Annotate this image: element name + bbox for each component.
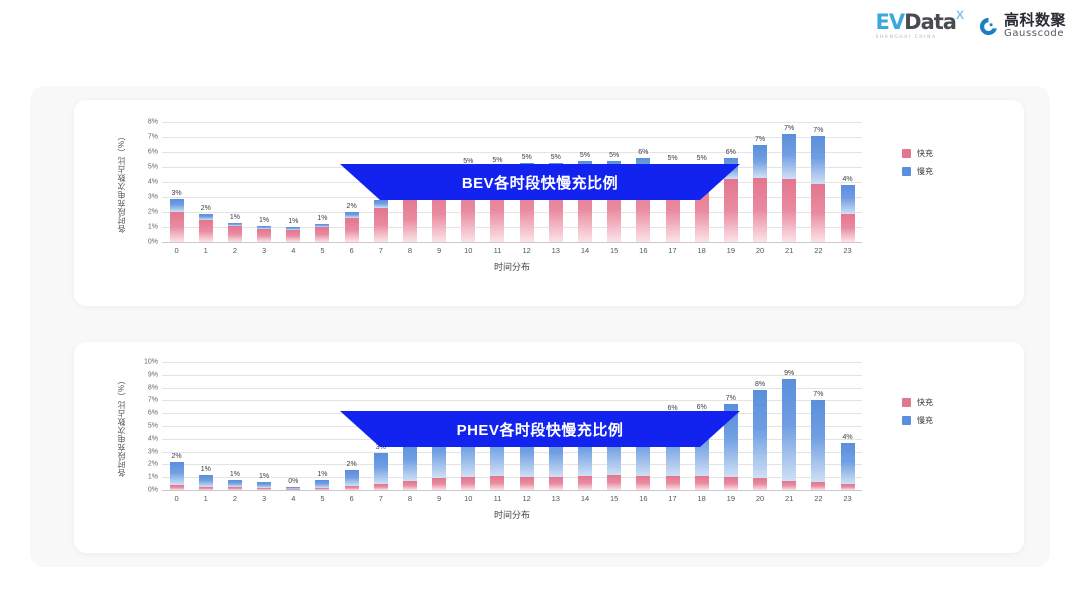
gausscode-en-label: Gausscode	[1004, 29, 1066, 39]
bar-data-label: 6%	[726, 149, 736, 156]
legend-label: 快充	[917, 148, 933, 159]
bar-column[interactable]: 1%	[191, 362, 220, 490]
x-tick: 9	[425, 246, 454, 255]
chart-phev-y-axis-label: 各时段充电次数占比（%）	[116, 358, 127, 494]
legend-color-swatch	[902, 416, 911, 425]
stacked-bar[interactable]	[374, 200, 388, 242]
x-tick: 17	[658, 494, 687, 503]
bar-data-label: 1%	[317, 215, 327, 222]
bar-segment-slow-charge	[374, 453, 388, 484]
stacked-bar[interactable]	[782, 134, 796, 242]
x-tick: 0	[162, 494, 191, 503]
bar-segment-slow-charge	[374, 200, 388, 208]
bar-segment-fast-charge	[228, 226, 242, 243]
bar-segment-fast-charge	[257, 229, 271, 243]
legend-label: 慢充	[917, 166, 933, 177]
bar-segment-fast-charge	[782, 179, 796, 242]
chart-phev-y-tick: 0%	[130, 487, 158, 494]
x-tick: 10	[454, 246, 483, 255]
chart-phev-x-axis-label: 时间分布	[162, 508, 862, 521]
x-tick: 8	[395, 494, 424, 503]
gausscode-logo: 高科数聚 Gausscode	[978, 13, 1066, 39]
bar-data-label: 5%	[522, 154, 532, 161]
bar-segment-slow-charge	[315, 480, 329, 488]
bar-column[interactable]: 2%	[191, 122, 220, 242]
bar-segment-fast-charge	[724, 179, 738, 242]
bar-column[interactable]: 4%	[833, 122, 862, 242]
chart-bev-y-tick: 2%	[130, 209, 158, 216]
content-panel: BEV各时段快慢充比例 各时段充电次数占比（%）0%1%2%3%4%5%6%7%…	[30, 86, 1050, 567]
bar-segment-fast-charge	[578, 476, 592, 490]
bar-segment-fast-charge	[461, 477, 475, 490]
bar-segment-fast-charge	[170, 485, 184, 490]
bar-data-label: 2%	[201, 205, 211, 212]
chart-phev-y-tick: 4%	[130, 435, 158, 442]
x-tick: 18	[687, 494, 716, 503]
phev-chart-title-banner: PHEV各时段快慢充比例	[340, 411, 740, 447]
x-tick: 2	[220, 246, 249, 255]
legend-color-swatch	[902, 149, 911, 158]
evdata-logo: EV Data X SHANGHAI CHINA	[876, 12, 964, 40]
bar-data-label: 1%	[259, 217, 269, 224]
x-tick: 5	[308, 494, 337, 503]
phev-chart: 各时段充电次数占比（%）0%1%2%3%4%5%6%7%8%9%10%2%1%1…	[74, 342, 1024, 553]
bar-column[interactable]: 7%	[804, 362, 833, 490]
x-tick: 16	[629, 494, 658, 503]
x-tick: 11	[483, 494, 512, 503]
bar-column[interactable]: 6%	[716, 122, 745, 242]
bar-segment-fast-charge	[636, 476, 650, 490]
bar-segment-slow-charge	[841, 185, 855, 214]
chart-phev-y-tick: 8%	[130, 384, 158, 391]
stacked-bar[interactable]	[753, 390, 767, 490]
bar-data-label: 7%	[784, 125, 794, 132]
bar-segment-slow-charge	[170, 462, 184, 485]
evdata-superscript-x: X	[956, 9, 964, 21]
bar-data-label: 2%	[172, 453, 182, 460]
x-tick: 0	[162, 246, 191, 255]
bar-segment-fast-charge	[520, 477, 534, 490]
chart-phev-y-tick: 2%	[130, 461, 158, 468]
bar-segment-fast-charge	[374, 484, 388, 490]
chart-bev-x-tick-row: 01234567891011121314151617181920212223	[162, 246, 862, 255]
bar-segment-slow-charge	[170, 199, 184, 213]
chart-bev-y-tick: 5%	[130, 164, 158, 171]
bar-segment-fast-charge	[841, 214, 855, 243]
bar-column[interactable]: 1%	[220, 362, 249, 490]
bar-data-label: 5%	[609, 152, 619, 159]
x-tick: 11	[483, 246, 512, 255]
stacked-bar[interactable]	[841, 185, 855, 242]
bar-data-label: 1%	[317, 471, 327, 478]
chart-bev-y-tick: 0%	[130, 239, 158, 246]
bar-data-label: 1%	[230, 214, 240, 221]
x-tick: 10	[454, 494, 483, 503]
bar-data-label: 5%	[492, 157, 502, 164]
chart-phev-legend: 快充慢充	[902, 397, 933, 426]
stacked-bar[interactable]	[374, 453, 388, 490]
chart-phev-y-tick: 6%	[130, 410, 158, 417]
stacked-bar[interactable]	[199, 214, 213, 243]
bar-data-label: 5%	[463, 158, 473, 165]
x-tick: 12	[512, 494, 541, 503]
x-tick: 21	[775, 494, 804, 503]
x-tick: 2	[220, 494, 249, 503]
chart-phev-y-tick: 7%	[130, 397, 158, 404]
gausscode-text: 高科数聚 Gausscode	[1004, 13, 1066, 39]
legend-item[interactable]: 慢充	[902, 415, 933, 426]
bar-segment-fast-charge	[403, 197, 417, 242]
bar-segment-fast-charge	[841, 484, 855, 490]
bar-segment-fast-charge	[286, 230, 300, 242]
evdata-wordmark: EV Data X	[876, 12, 964, 33]
bar-segment-slow-charge	[199, 475, 213, 487]
bar-data-label: 4%	[842, 434, 852, 441]
bar-segment-slow-charge	[811, 400, 825, 482]
chart-bev-y-tick: 6%	[130, 149, 158, 156]
x-tick: 8	[395, 246, 424, 255]
bar-segment-slow-charge	[811, 136, 825, 184]
stacked-bar[interactable]	[345, 212, 359, 242]
bar-data-label: 8%	[755, 381, 765, 388]
bar-segment-fast-charge	[199, 220, 213, 243]
x-tick: 7	[366, 246, 395, 255]
evdata-ev-text: EV	[876, 12, 905, 33]
bar-data-label: 5%	[667, 155, 677, 162]
x-tick: 17	[658, 246, 687, 255]
chart-bev-x-axis-line	[162, 242, 862, 243]
gausscode-cn-label: 高科数聚	[1004, 13, 1066, 28]
stacked-bar[interactable]	[345, 470, 359, 490]
bar-data-label: 0%	[288, 478, 298, 485]
phev-chart-card: 各时段充电次数占比（%）0%1%2%3%4%5%6%7%8%9%10%2%1%1…	[74, 342, 1024, 553]
bar-column[interactable]: 1%	[250, 122, 279, 242]
bev-chart-card: 各时段充电次数占比（%）0%1%2%3%4%5%6%7%8%3%2%1%1%1%…	[74, 100, 1024, 306]
stacked-bar[interactable]	[228, 480, 242, 490]
logo-group: EV Data X SHANGHAI CHINA 高科数聚 Gausscode	[876, 12, 1066, 40]
bar-data-label: 4%	[842, 176, 852, 183]
chart-phev-x-tick-row: 01234567891011121314151617181920212223	[162, 494, 862, 503]
stacked-bar[interactable]	[782, 379, 796, 490]
bar-data-label: 9%	[784, 370, 794, 377]
bar-data-label: 1%	[259, 473, 269, 480]
x-tick: 1	[191, 246, 220, 255]
bar-segment-fast-charge	[549, 477, 563, 490]
chart-phev-x-axis-line	[162, 490, 862, 491]
bar-data-label: 1%	[201, 466, 211, 473]
bar-column[interactable]: 7%	[775, 122, 804, 242]
x-tick: 23	[833, 494, 862, 503]
x-tick: 1	[191, 494, 220, 503]
bar-segment-fast-charge	[607, 475, 621, 490]
chart-bev-y-axis-label: 各时段充电次数占比（%）	[116, 118, 127, 246]
stacked-bar[interactable]	[753, 145, 767, 243]
legend-item[interactable]: 快充	[902, 148, 933, 159]
stacked-bar[interactable]	[315, 224, 329, 242]
bev-chart: 各时段充电次数占比（%）0%1%2%3%4%5%6%7%8%3%2%1%1%1%…	[74, 100, 1024, 306]
legend-color-swatch	[902, 398, 911, 407]
x-tick: 4	[279, 494, 308, 503]
chart-bev-x-axis-label: 时间分布	[162, 260, 862, 273]
bar-column[interactable]: 8%	[745, 362, 774, 490]
bar-segment-fast-charge	[228, 487, 242, 490]
bar-data-label: 1%	[288, 218, 298, 225]
bar-segment-fast-charge	[753, 478, 767, 490]
legend-item[interactable]: 快充	[902, 397, 933, 408]
x-tick: 19	[716, 246, 745, 255]
x-tick: 13	[541, 494, 570, 503]
x-tick: 19	[716, 494, 745, 503]
legend-label: 慢充	[917, 415, 933, 426]
stacked-bar[interactable]	[286, 227, 300, 242]
x-tick: 22	[804, 246, 833, 255]
chart-bev-y-tick: 4%	[130, 179, 158, 186]
x-tick: 14	[570, 246, 599, 255]
bar-data-label: 7%	[755, 136, 765, 143]
x-tick: 7	[366, 494, 395, 503]
bar-column[interactable]: 1%	[308, 122, 337, 242]
chart-bev-y-tick: 1%	[130, 224, 158, 231]
legend-label: 快充	[917, 397, 933, 408]
stacked-bar[interactable]	[811, 136, 825, 243]
bar-column[interactable]: 2%	[162, 362, 191, 490]
stacked-bar[interactable]	[403, 441, 417, 490]
legend-item[interactable]: 慢充	[902, 166, 933, 177]
bar-data-label: 7%	[813, 391, 823, 398]
stacked-bar[interactable]	[199, 475, 213, 490]
stacked-bar[interactable]	[257, 482, 271, 490]
x-tick: 4	[279, 246, 308, 255]
bar-segment-slow-charge	[841, 443, 855, 484]
bar-segment-fast-charge	[695, 476, 709, 490]
stacked-bar[interactable]	[170, 462, 184, 490]
x-tick: 16	[629, 246, 658, 255]
bar-column[interactable]: 7%	[804, 122, 833, 242]
bar-segment-fast-charge	[286, 489, 300, 490]
bar-segment-fast-charge	[490, 476, 504, 490]
evdata-data-text: Data	[904, 12, 956, 33]
bar-segment-fast-charge	[315, 488, 329, 490]
x-tick: 20	[745, 246, 774, 255]
bar-column[interactable]: 0%	[279, 362, 308, 490]
bar-segment-fast-charge	[666, 476, 680, 490]
bar-column[interactable]: 1%	[279, 122, 308, 242]
bar-data-label: 7%	[726, 395, 736, 402]
bar-segment-fast-charge	[170, 212, 184, 242]
bar-data-label: 2%	[347, 203, 357, 210]
bar-segment-fast-charge	[403, 481, 417, 490]
bev-chart-title-banner: BEV各时段快慢充比例	[340, 164, 740, 200]
chart-phev-y-tick: 3%	[130, 448, 158, 455]
bar-segment-fast-charge	[257, 488, 271, 490]
bar-column[interactable]: 1%	[308, 362, 337, 490]
bar-data-label: 1%	[230, 471, 240, 478]
x-tick: 9	[425, 494, 454, 503]
chart-phev-y-tick: 5%	[130, 423, 158, 430]
legend-color-swatch	[902, 167, 911, 176]
stacked-bar[interactable]	[170, 199, 184, 243]
bar-segment-fast-charge	[782, 481, 796, 490]
chart-bev-y-tick: 3%	[130, 194, 158, 201]
bar-segment-fast-charge	[199, 487, 213, 490]
stacked-bar[interactable]	[315, 480, 329, 490]
bar-data-label: 6%	[638, 149, 648, 156]
x-tick: 18	[687, 246, 716, 255]
bar-segment-fast-charge	[374, 208, 388, 243]
bar-segment-slow-charge	[228, 480, 242, 488]
bar-segment-slow-charge	[753, 145, 767, 178]
bar-segment-fast-charge	[345, 486, 359, 490]
bar-column[interactable]: 1%	[250, 362, 279, 490]
stacked-bar[interactable]	[228, 223, 242, 243]
x-tick: 15	[600, 246, 629, 255]
bar-column[interactable]: 3%	[162, 122, 191, 242]
bar-segment-fast-charge	[811, 184, 825, 243]
stacked-bar[interactable]	[841, 443, 855, 490]
bar-data-label: 7%	[813, 127, 823, 134]
bar-column[interactable]: 4%	[833, 362, 862, 490]
bar-segment-fast-charge	[432, 478, 446, 490]
bar-segment-slow-charge	[345, 470, 359, 487]
chart-bev-legend: 快充慢充	[902, 148, 933, 177]
bar-segment-slow-charge	[403, 441, 417, 481]
x-tick: 14	[570, 494, 599, 503]
bar-column[interactable]: 9%	[775, 362, 804, 490]
bar-segment-fast-charge	[753, 178, 767, 243]
bar-segment-slow-charge	[753, 390, 767, 478]
bar-data-label: 2%	[347, 461, 357, 468]
x-tick: 15	[600, 494, 629, 503]
x-tick: 3	[250, 246, 279, 255]
page-header: EV Data X SHANGHAI CHINA 高科数聚 Gausscode	[0, 0, 1080, 62]
x-tick: 6	[337, 246, 366, 255]
bar-column[interactable]: 7%	[745, 122, 774, 242]
stacked-bar[interactable]	[257, 226, 271, 243]
x-tick: 6	[337, 494, 366, 503]
bar-segment-fast-charge	[345, 218, 359, 242]
x-tick: 23	[833, 246, 862, 255]
x-tick: 22	[804, 494, 833, 503]
bar-column[interactable]: 1%	[220, 122, 249, 242]
x-tick: 3	[250, 494, 279, 503]
bar-data-label: 3%	[172, 190, 182, 197]
chart-bev-y-tick: 7%	[130, 134, 158, 141]
bar-data-label: 5%	[697, 155, 707, 162]
chart-phev-y-tick: 10%	[130, 359, 158, 366]
bar-segment-fast-charge	[811, 482, 825, 490]
bar-segment-fast-charge	[315, 227, 329, 242]
bar-segment-fast-charge	[724, 477, 738, 490]
bar-data-label: 5%	[551, 154, 561, 161]
chart-phev-y-tick: 1%	[130, 474, 158, 481]
bar-data-label: 5%	[580, 152, 590, 159]
stacked-bar[interactable]	[286, 487, 300, 490]
chart-phev-y-tick: 9%	[130, 371, 158, 378]
stacked-bar[interactable]	[811, 400, 825, 490]
x-tick: 20	[745, 494, 774, 503]
x-tick: 5	[308, 246, 337, 255]
x-tick: 12	[512, 246, 541, 255]
bar-segment-slow-charge	[782, 379, 796, 481]
x-tick: 13	[541, 246, 570, 255]
evdata-subtitle: SHANGHAI CHINA	[876, 35, 937, 40]
chart-bev-y-tick: 8%	[130, 119, 158, 126]
x-tick: 21	[775, 246, 804, 255]
bar-segment-slow-charge	[782, 134, 796, 179]
gausscode-circle-icon	[978, 16, 999, 37]
bar-data-label: 6%	[697, 404, 707, 411]
